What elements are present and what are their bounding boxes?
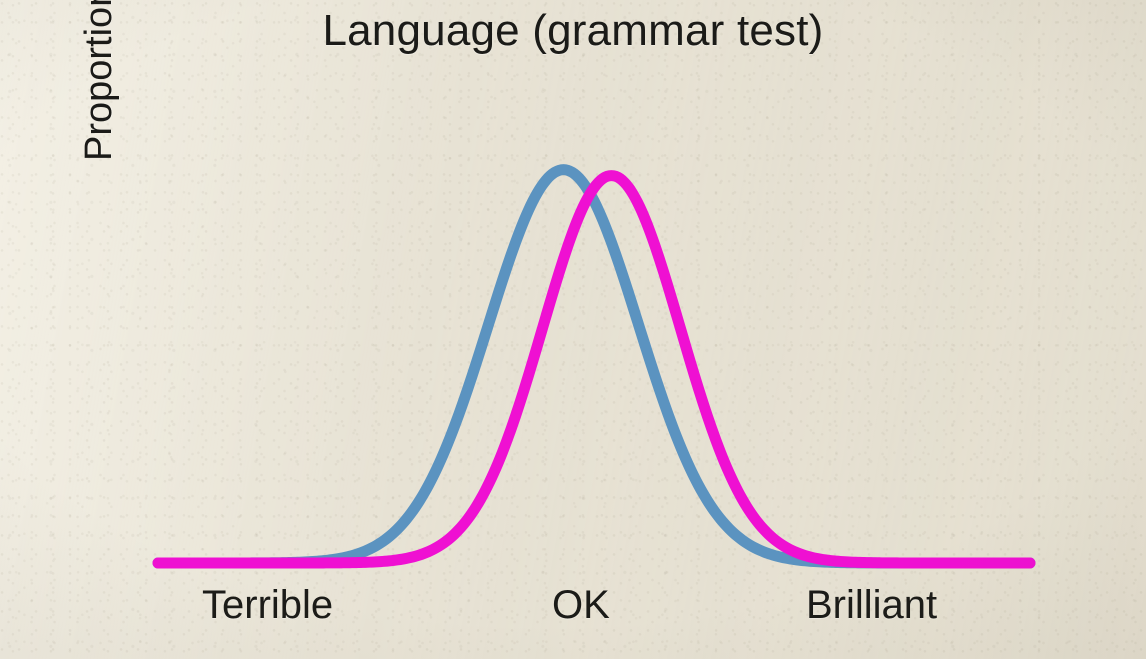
x-tick-label-ok: OK <box>552 583 610 628</box>
plot-area <box>0 0 1146 659</box>
slide-canvas: Language (grammar test) Proportion of pe… <box>0 0 1146 659</box>
distribution-curve-blue <box>158 170 1030 563</box>
x-tick-label-brilliant: Brilliant <box>806 583 937 628</box>
x-tick-label-terrible: Terrible <box>202 583 333 628</box>
distribution-curve-magenta <box>158 176 1030 563</box>
